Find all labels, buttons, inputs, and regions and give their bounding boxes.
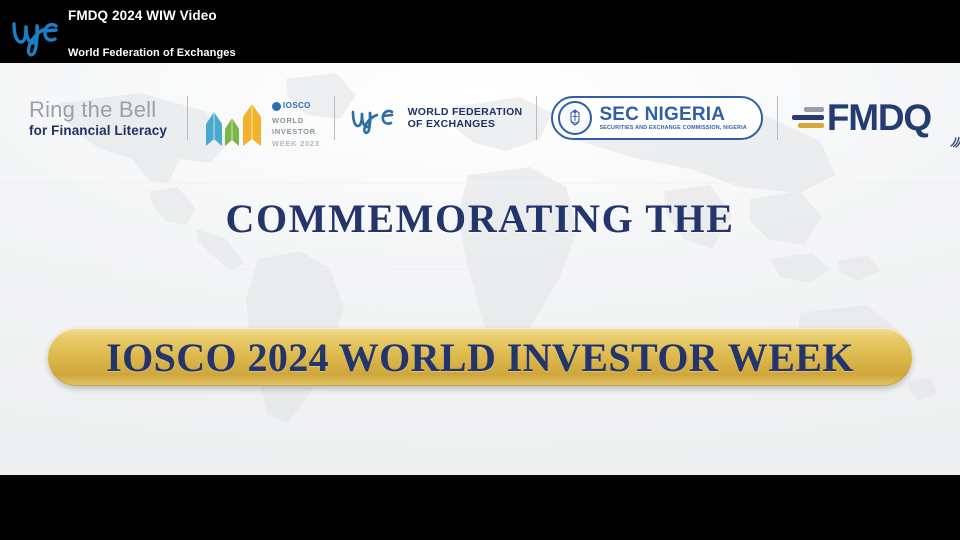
wiw-pencils-icon	[202, 102, 266, 150]
wiw-line-2: INVESTOR	[272, 127, 320, 136]
fmdq-bar-gold	[798, 123, 824, 128]
logo-divider	[334, 96, 335, 140]
headline-group: COMMEMORATING THE	[0, 198, 960, 240]
wiw-line-3: WEEK 2023	[272, 139, 320, 148]
fmdq-logo: FMDQ	[792, 86, 949, 150]
fmdq-bar-navy	[792, 115, 824, 120]
video-letterbox-bottom	[0, 475, 960, 540]
logo-divider	[777, 96, 778, 140]
video-channel-name: World Federation of Exchanges	[68, 47, 236, 59]
presentation-slide: Ring the Bell for Financial Literacy	[0, 63, 960, 475]
sec-nigeria-title: SEC NIGERIA	[599, 105, 746, 124]
ring-the-bell-subtitle: for Financial Literacy	[29, 124, 167, 138]
gold-banner-title: IOSCO 2024 WORLD INVESTOR WEEK	[106, 334, 854, 381]
gold-title-banner: IOSCO 2024 WORLD INVESTOR WEEK	[48, 328, 912, 386]
ring-the-bell-title: Ring the Bell	[29, 99, 167, 121]
sec-nigeria-logo: SEC NIGERIA SECURITIES AND EXCHANGE COMM…	[551, 96, 762, 140]
fmdq-signal-wave-icon	[948, 133, 960, 149]
video-player-viewport: FMDQ 2024 WIW Video World Federation of …	[0, 0, 960, 540]
wiw-line-1: WORLD	[272, 116, 320, 125]
headline-line-1: COMMEMORATING THE	[0, 198, 960, 240]
logo-divider	[536, 96, 537, 140]
iosco-mark-icon	[272, 102, 281, 111]
world-federation-of-exchanges-logo: WORLD FEDERATION OF EXCHANGES	[349, 86, 523, 150]
wfe-line-2: OF EXCHANGES	[408, 118, 523, 130]
ring-the-bell-logo: Ring the Bell for Financial Literacy	[11, 86, 173, 150]
iosco-badge: IOSCO	[272, 102, 320, 111]
sec-nigeria-logo-cell: SEC NIGERIA SECURITIES AND EXCHANGE COMM…	[551, 86, 762, 150]
fmdq-wordmark: FMDQ	[827, 101, 931, 135]
video-title: FMDQ 2024 WIW Video	[68, 8, 217, 23]
video-header-bar: FMDQ 2024 WIW Video World Federation of …	[0, 0, 960, 63]
fmdq-bars-icon	[792, 107, 824, 130]
iosco-wordmark: IOSCO	[283, 102, 311, 110]
wfe-script-icon	[349, 101, 401, 135]
nigeria-coat-of-arms-icon	[558, 101, 592, 135]
sec-nigeria-subtitle: SECURITIES AND EXCHANGE COMMISSION, NIGE…	[599, 126, 746, 131]
sponsor-logo-strip: Ring the Bell for Financial Literacy	[0, 85, 960, 151]
wfe-line-1: WORLD FEDERATION	[408, 106, 523, 118]
logo-divider	[187, 96, 188, 140]
world-investor-week-logo: IOSCO WORLD INVESTOR WEEK 2023	[202, 86, 320, 150]
wfe-script-logo-icon	[4, 2, 66, 58]
fmdq-bar-gray	[804, 107, 824, 112]
